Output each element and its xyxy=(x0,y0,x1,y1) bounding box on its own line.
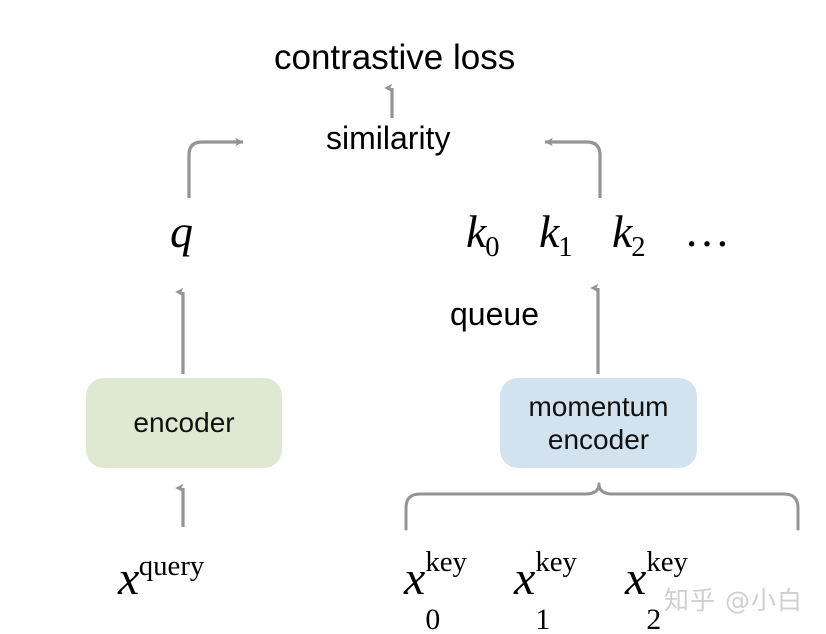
input-x-key-0: xkey0 xyxy=(404,555,425,603)
x-key-1-subscript: 1 xyxy=(535,605,550,634)
momentum-encoder-box-label-line2: encoder xyxy=(548,423,649,456)
watermark: 知乎 @小白 xyxy=(664,588,803,613)
contrastive-loss-label: contrastive loss xyxy=(274,40,515,75)
arrow-keys-to-similarity xyxy=(545,142,600,198)
k1-base: k xyxy=(539,206,559,257)
x-key-0-base: x xyxy=(404,552,425,605)
x-key-2-base: x xyxy=(625,552,646,605)
x-key-2-subscript: 2 xyxy=(646,605,661,634)
x-key-1-superscript: key xyxy=(535,548,577,577)
keys-ellipsis: … xyxy=(684,208,730,254)
moco-architecture-diagram: contrastive loss similarity queue q k0 k… xyxy=(0,0,826,634)
queue-label: queue xyxy=(450,298,539,330)
input-x-query: xquery xyxy=(118,555,205,603)
x-query-superscript: query xyxy=(139,550,205,582)
encoder-box[interactable]: encoder xyxy=(86,378,282,468)
key-representation-k1: k1 xyxy=(539,208,574,255)
arrow-q-to-similarity xyxy=(189,142,243,198)
x-key-0-subscript: 0 xyxy=(425,605,440,634)
brace-key-inputs xyxy=(406,484,798,529)
momentum-encoder-box[interactable]: momentum encoder xyxy=(500,378,697,468)
q-base: q xyxy=(170,206,193,257)
k0-base: k xyxy=(466,206,486,257)
x-key-0-superscript: key xyxy=(425,548,467,577)
query-representation-q: q xyxy=(170,208,193,255)
x-query-base: x xyxy=(118,552,139,605)
k2-subscript: 2 xyxy=(631,232,645,263)
x-key-2-superscript: key xyxy=(646,548,688,577)
encoder-box-label: encoder xyxy=(133,407,234,439)
k0-subscript: 0 xyxy=(485,232,499,263)
k1-subscript: 1 xyxy=(558,232,572,263)
input-x-key-2: xkey2 xyxy=(625,555,646,603)
k2-base: k xyxy=(612,206,632,257)
connector-layer xyxy=(0,0,826,634)
momentum-encoder-box-label-line1: momentum xyxy=(528,390,668,423)
key-representation-k0: k0 xyxy=(466,208,501,255)
input-x-key-1: xkey1 xyxy=(514,555,535,603)
x-key-1-base: x xyxy=(514,552,535,605)
key-representation-k2: k2 xyxy=(612,208,647,255)
similarity-label: similarity xyxy=(326,122,450,154)
